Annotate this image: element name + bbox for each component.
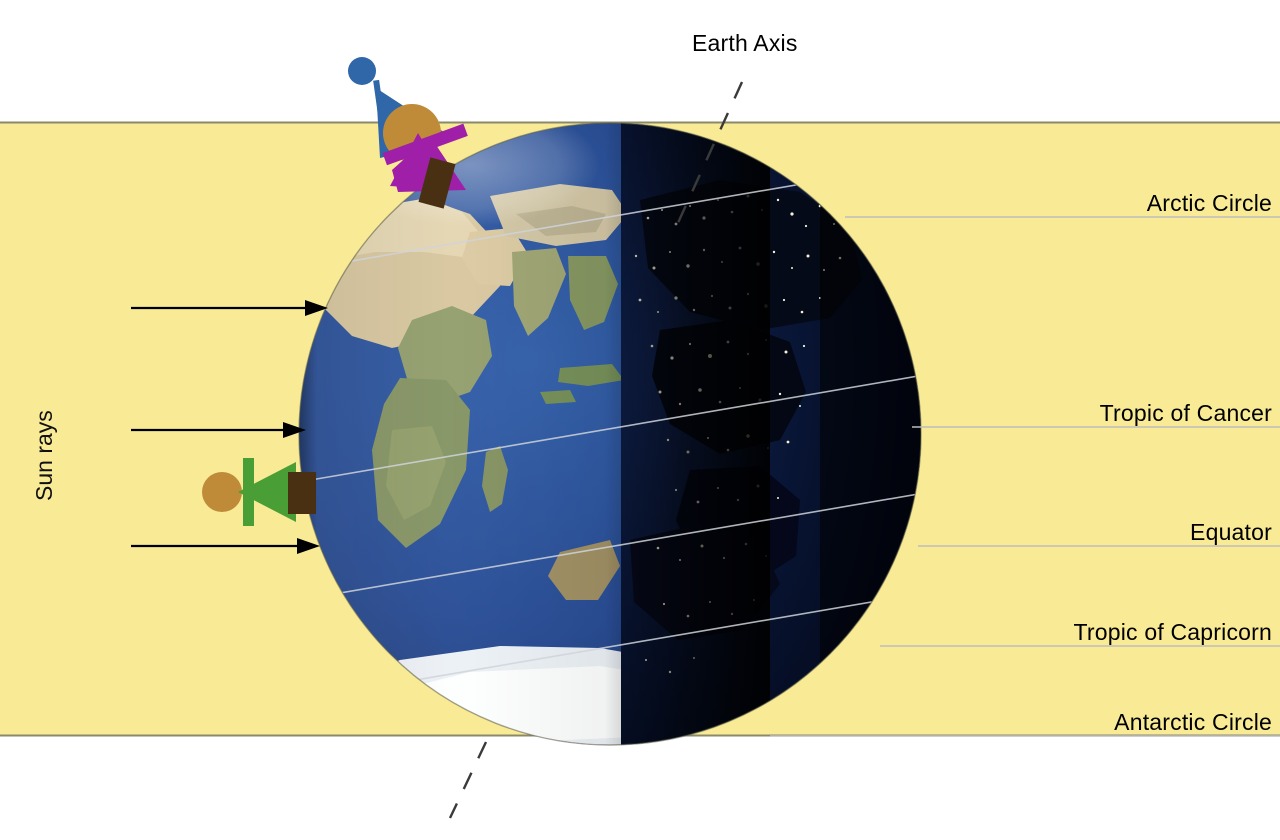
polar-figure-head — [348, 57, 376, 85]
earth-axis-label: Earth Axis — [692, 30, 798, 57]
earth-diagram-svg — [0, 0, 1280, 840]
latitude-label-tropic-of-cancer: Tropic of Cancer — [1100, 400, 1272, 427]
equator-figure-head — [202, 472, 242, 512]
latitude-label-equator: Equator — [1190, 519, 1272, 546]
diagram-canvas: Earth Axis Sun rays Arctic Circle Tropic… — [0, 0, 1280, 840]
sun-rays-label: Sun rays — [31, 410, 58, 501]
latitude-label-tropic-of-capricorn: Tropic of Capricorn — [1073, 619, 1272, 646]
equator-figure-legs — [288, 472, 316, 514]
latitude-label-arctic-circle: Arctic Circle — [1147, 190, 1272, 217]
latitude-label-antarctic-circle: Antarctic Circle — [1114, 709, 1272, 736]
